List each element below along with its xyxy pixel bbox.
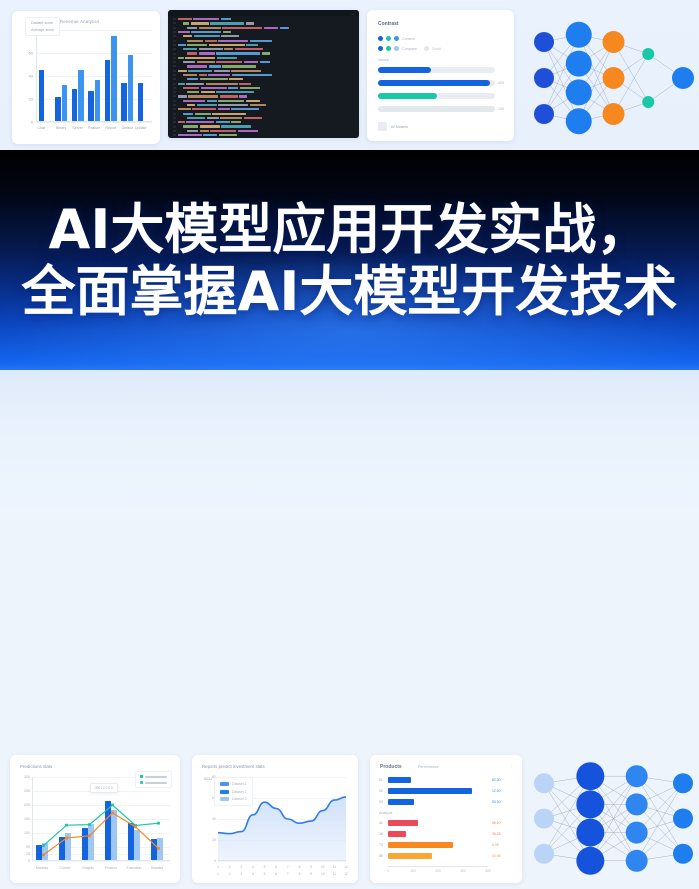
stats-panel-title: Contrast [378,21,399,27]
xtick-sub-2: 3 [240,872,242,876]
nn-node-2-3 [626,850,648,872]
xtick-sub-6: 7 [287,872,289,876]
combo-point-0-2 [88,823,91,826]
legend-dot-pale [394,46,399,51]
token-17-0 [187,91,199,93]
area-legend-item-0: Dataset 1 [220,782,247,786]
indent-5 [178,40,186,41]
token-22-2 [212,113,246,115]
bar-1-2[interactable] [78,70,84,121]
nn-node-2-0 [626,765,648,787]
token-22-0 [183,113,193,115]
ytick-60: 60 [29,51,33,56]
hbar-value-4: 36.28 [492,832,501,836]
stats-bar-track-3[interactable] [378,106,495,112]
hbar-bar-1[interactable] [388,788,472,794]
legend-marker-teal [140,775,143,778]
ytick-300: 300 [16,775,30,779]
token-11-0 [187,65,207,67]
stats-bar-fill-2 [378,93,437,99]
x-axis [36,121,152,122]
stats-bar-track-2[interactable] [378,93,495,99]
bar-group-4: Report [105,36,117,121]
token-9-2 [217,57,237,59]
token-0-1 [193,18,219,20]
token-16-0 [183,87,199,89]
legend-label-compare: Compare [402,47,417,51]
stats-section-label: Values [378,58,389,62]
token-18-2 [220,95,238,97]
bar-0-4[interactable] [105,60,111,121]
token-13-3 [232,74,272,76]
token-25-1 [200,125,220,127]
xtick-0: Monday [36,866,48,870]
token-1-0 [183,22,189,24]
token-26-1 [200,130,209,132]
stats-bar-track-1[interactable] [378,80,495,86]
code-editor-card[interactable]: ••• 121314151617181920212223242526272829… [168,10,359,138]
nn-node-1-2 [566,79,592,105]
ytick-50: 50 [16,845,30,849]
nn-node-1-1 [576,790,604,818]
indent-10 [178,62,182,63]
gridline-0 [218,861,346,862]
token-13-0 [183,74,197,76]
hbar-xtick-0: 0 [387,869,389,874]
nn-node-2-0 [603,31,625,53]
legend-label-1: Dataset 2 [232,790,247,794]
xtick-5: Default [122,126,133,130]
area-legend-item-1: Dataset 2 [220,790,247,794]
nn-node-4-0 [672,67,694,89]
token-20-2 [218,104,248,106]
bar-1-3[interactable] [95,80,101,121]
combo-chart-title: Predictions stats [20,764,52,769]
hbar-xtick-100: 100 [410,869,415,874]
token-5-2 [218,40,248,42]
legend-item-1: Average score [31,28,54,32]
combo-point-0-5 [157,822,160,825]
hbar-key-1: 02 [379,789,383,793]
xtick-sub-5: 6 [275,872,277,876]
token-10-0 [183,61,195,63]
token-2-4 [280,27,289,29]
legend-label-bar-a [145,776,167,778]
token-5-3 [250,40,272,42]
bar-chart-card[interactable]: Revenue Analytics 020406080ChatBinarySer… [12,11,160,144]
area-chart-title: Reports predict investment stats [202,764,265,769]
legend-dot-grey [424,46,429,51]
combo-point-1-5 [157,847,160,850]
xtick-sub-8: 9 [310,872,312,876]
hbar-chart-subtitle: Performance [418,765,439,769]
nn-node-1-3 [566,108,592,134]
token-10-4 [260,61,270,63]
hbar-bar-5[interactable] [388,842,453,848]
combo-point-0-1 [65,824,68,827]
hbar-value-3: 56.20 [492,821,501,825]
indent-22 [178,113,182,114]
token-24-2 [216,121,230,123]
token-23-3 [244,117,262,119]
gridline-40 [36,76,152,77]
token-21-1 [192,108,216,110]
combo-chart-card[interactable]: Predictions stats 02550100150200250300Mo… [10,755,180,883]
token-5-0 [187,40,203,42]
hbar-xtick-200: 200 [435,869,440,874]
token-4-1 [194,35,220,37]
token-20-0 [187,104,195,106]
token-26-0 [187,130,198,132]
nn-node-0-1 [534,68,554,88]
token-25-0 [183,125,198,127]
xtick-6: Update [135,126,147,130]
token-8-2 [216,52,260,54]
combo-point-1-1 [65,837,68,840]
hbar-key-3: 41 [379,821,383,825]
ytick-150: 150 [16,817,30,821]
y-axis [36,30,37,122]
token-5-1 [205,40,217,42]
token-7-3 [235,48,263,50]
token-24-0 [178,121,185,123]
token-2-2 [222,27,262,29]
hbar-xtick-300: 300 [460,869,465,874]
xtick-3: Feature [88,126,100,130]
hbar-row-2[interactable]: 0393.00 [379,799,513,806]
token-18-0 [178,95,187,97]
ytick-20: 20 [204,838,216,842]
ytick-0: 0 [16,859,30,863]
ytick-25: 25 [16,852,30,856]
stats-bar-value-1: 400 [498,81,504,85]
bar-chart-legend: Dataset score Average score [25,17,60,36]
bar-1-5[interactable] [128,55,134,121]
token-19-2 [218,100,244,102]
token-6-2 [209,44,245,46]
xtick-1: Combo [60,866,71,870]
token-16-1 [201,87,227,89]
token-2-3 [264,27,278,29]
token-13-2 [208,74,230,76]
combo-point-0-3 [111,804,114,807]
nn-node-1-1 [566,51,592,77]
nn-node-2-2 [626,822,648,844]
code-line-28: 40 [168,137,359,138]
token-11-2 [222,65,256,67]
hbar-key-6: 85 [379,854,383,858]
ytick-250: 250 [16,789,30,793]
token-23-0 [187,117,205,119]
nn-node-1-2 [576,819,604,847]
hbar-row-4[interactable]: 2636.28 [379,831,513,838]
token-21-3 [231,108,259,110]
token-1-3 [246,22,254,24]
hbar-xtick-400: 400 [485,869,490,874]
combo-line-1 [44,813,159,855]
bottom-screenshot-strip: Predictions stats 02550100150200250300Mo… [0,370,699,519]
bar-group-2: Server [72,70,84,121]
token-19-1 [207,100,217,102]
ytick-0: 0 [204,859,216,863]
legend-marker-0 [220,782,229,786]
xtick-6: 7 [287,865,289,869]
nn-node-1-0 [566,22,592,48]
stats-bar-fill-0 [378,67,431,73]
token-21-2 [218,108,230,110]
legend-dot-teal [386,36,391,41]
token-11-1 [209,65,221,67]
hbar-key-4: 26 [379,832,383,836]
token-3-2 [223,31,231,33]
top-screenshot-strip: Revenue Analytics 020406080ChatBinarySer… [0,0,699,155]
token-17-1 [201,91,215,93]
hero-title-line-1: AI大模型应用开发实战， [49,200,651,260]
token-1-2 [210,22,244,24]
xtick-9: 10 [321,865,325,869]
hbar-chart-plot: 0182.300212.000393.00Analysis4156.202636… [379,777,513,873]
token-15-1 [186,83,204,85]
line-number-28: 40 [171,137,176,138]
hbar-value-5: 6.08 [492,843,499,847]
token-10-1 [197,61,215,63]
stats-footer-label: AI Models [391,125,408,129]
xtick-0: 1 [217,865,219,869]
stats-panel-card[interactable]: Contrast Content Compare Detail Values 4… [367,10,514,141]
xtick-4: Execution [127,866,142,870]
indent-20 [178,105,186,106]
stats-bar-fill-3 [378,106,495,112]
hbar-row-5[interactable]: 736.08 [379,842,513,849]
nn-node-1-3 [576,847,604,875]
hbar-value-0: 82.30 [492,778,501,782]
token-19-3 [246,100,260,102]
indent-4 [178,36,182,37]
token-16-3 [240,87,260,89]
bar-0-5[interactable] [121,83,127,121]
hbar-chart-title: Products [380,764,402,770]
token-3-1 [191,31,221,33]
hero-banner: AI大模型应用开发实战， 全面掌握AI大模型开发技术 [0,150,699,372]
token-15-2 [206,83,238,85]
indent-8 [178,53,186,54]
token-27-2 [219,134,237,136]
indent-19 [178,100,182,101]
indent-1 [178,23,182,24]
token-7-1 [199,48,223,50]
bar-chart-title: Revenue Analytics [60,19,100,24]
nn-node-0-1 [534,809,554,829]
hbar-bar-2[interactable] [388,799,414,805]
token-23-2 [220,117,242,119]
indent-2 [178,27,186,28]
bar-group-1: Binary [55,85,67,121]
stats-legend-row-1: Content [378,36,415,41]
token-0-2 [221,18,231,20]
hbar-row-6[interactable]: 8543.56 [379,853,513,860]
token-26-2 [210,130,236,132]
nn-node-1-0 [576,762,604,790]
indent-13 [178,75,182,76]
xtick-sub-3: 4 [252,872,254,876]
legend-label-detail: Detail [432,47,441,51]
bar-1-1[interactable] [62,85,68,121]
xtick-4: 5 [264,865,266,869]
gridline-0 [32,861,170,862]
xtick-11: 12 [344,865,348,869]
legend-marker-1 [220,790,229,794]
indent-7 [178,49,182,50]
token-10-3 [244,61,258,63]
hbar-row-3[interactable]: 4156.20 [379,820,513,827]
token-2-1 [199,27,221,29]
nn-node-2-2 [603,103,625,125]
nn-node-3-0 [642,48,654,60]
nn-node-2-1 [626,793,648,815]
hbar-chart-card[interactable]: Products Performance ⋮ 0182.300212.00039… [370,755,522,883]
xtick-sub-1: 2 [229,872,231,876]
token-16-2 [228,87,238,89]
token-8-1 [199,52,215,54]
ytick-200: 200 [16,803,30,807]
hero-title-line-2: 全面掌握AI大模型开发技术 [22,262,678,322]
xtick-10: 11 [333,865,336,869]
hbar-bar-6[interactable] [388,853,432,859]
token-7-0 [183,48,197,50]
token-8-0 [187,52,197,54]
xtick-4: Report [105,126,116,130]
token-27-0 [178,134,202,136]
hbar-bar-3[interactable] [388,820,418,826]
ytick-0: 0 [31,120,33,125]
bar-0-0[interactable] [39,70,45,121]
token-6-0 [178,44,186,46]
token-22-1 [195,113,211,115]
stats-bar-value-3: 100 [498,107,504,111]
hbar-bar-0[interactable] [388,777,411,783]
legend-dot-teal-2 [386,46,391,51]
bar-group-6: Update [138,83,144,121]
token-10-2 [216,61,242,63]
hbar-value-2: 93.00 [492,800,501,804]
xtick-sub-7: 8 [299,872,301,876]
hbar-bar-4[interactable] [388,831,406,837]
stats-bar-track-0[interactable] [378,67,495,73]
xtick-2: 3 [240,865,242,869]
gridline-60 [36,53,152,54]
xtick-3: 4 [252,865,254,869]
hbar-section-label: Analysis [379,811,392,815]
token-0-0 [178,18,192,20]
xtick-7: 8 [299,865,301,869]
token-14-1 [200,78,228,80]
ytick-20: 20 [29,97,33,102]
combo-chart-plot: 02550100150200250300MondayComboGraphicPr… [32,777,170,861]
indent-26 [178,130,186,131]
nn-node-3-1 [642,96,654,108]
nn-node-3-1 [673,809,693,829]
nn-node-0-0 [534,32,554,52]
token-2-0 [187,27,197,29]
token-14-2 [229,78,243,80]
legend-label-0: Dataset 1 [232,782,247,786]
token-6-3 [246,44,258,46]
token-1-1 [191,22,209,24]
indent-11 [178,66,186,67]
hbar-key-5: 73 [379,843,383,847]
bar-group-0: Chat [39,70,45,121]
nn-node-3-2 [673,844,693,864]
hbar-x-axis [388,866,488,867]
xtick-8: 9 [310,865,312,869]
area-chart-legend: Dataset 1 Dataset 2 Dataset 3 [214,777,253,806]
xtick-1: Binary [56,126,66,130]
bar-0-2[interactable] [72,89,78,121]
legend-label-bar-b [145,782,167,784]
combo-point-0-0 [42,844,45,847]
hbar-value-1: 12.00 [492,789,501,793]
stats-bar-fill-1 [378,80,490,86]
token-4-0 [183,35,192,37]
token-12-2 [214,70,230,72]
token-15-3 [239,83,251,85]
hbar-row-1[interactable]: 0212.00 [379,788,513,795]
area-legend-item-2: Dataset 3 [220,797,247,801]
xtick-sub-10: 11 [333,872,336,876]
token-27-1 [203,134,217,136]
bar-chart-plot: 020406080ChatBinaryServerFeatureReportDe… [36,30,152,122]
nn-node-3-0 [673,773,693,793]
code-editor-body[interactable]: 1213141516171819202122232425262728293031… [168,16,359,138]
legend-dot-blue-2 [378,46,383,51]
combo-chart-legend [135,771,173,788]
token-12-1 [188,70,212,72]
xtick-0: Chat [37,126,45,130]
combo-line-0 [44,805,159,846]
token-3-0 [178,31,190,33]
hbar-menu-icon[interactable]: ⋮ [509,764,513,768]
nn-node-0-0 [534,773,554,793]
xtick-sub-11: 12 [344,872,348,876]
hbar-key-0: 01 [379,778,383,782]
stats-footer[interactable]: AI Models [378,122,408,131]
hbar-row-0[interactable]: 0182.30 [379,777,513,784]
xtick-5: Detailed [151,866,163,870]
bar-group-5: Default [121,55,133,121]
legend-dot-lightblue [394,36,399,41]
area-chart-card[interactable]: Reports predict investment stats SCU 020… [192,755,358,883]
token-25-2 [221,125,251,127]
token-19-0 [183,100,205,102]
bar-0-1[interactable] [55,97,61,121]
token-21-0 [178,108,191,110]
model-swatch-icon [378,122,387,131]
token-18-1 [188,95,218,97]
bar-group-3: Feature [88,80,100,121]
token-24-3 [231,121,241,123]
gridline-0 [36,122,152,123]
xtick-1: 2 [229,865,231,869]
bar-1-4[interactable] [111,36,117,121]
token-4-2 [221,35,239,37]
token-23-1 [207,117,219,119]
xtick-sub-0: 1 [217,872,219,876]
bar-0-3[interactable] [88,91,94,121]
neural-network-bottom-diagram [528,748,699,889]
combo-point-1-3 [111,811,114,814]
bar-0-6[interactable] [138,83,144,121]
indent-16 [178,87,182,88]
